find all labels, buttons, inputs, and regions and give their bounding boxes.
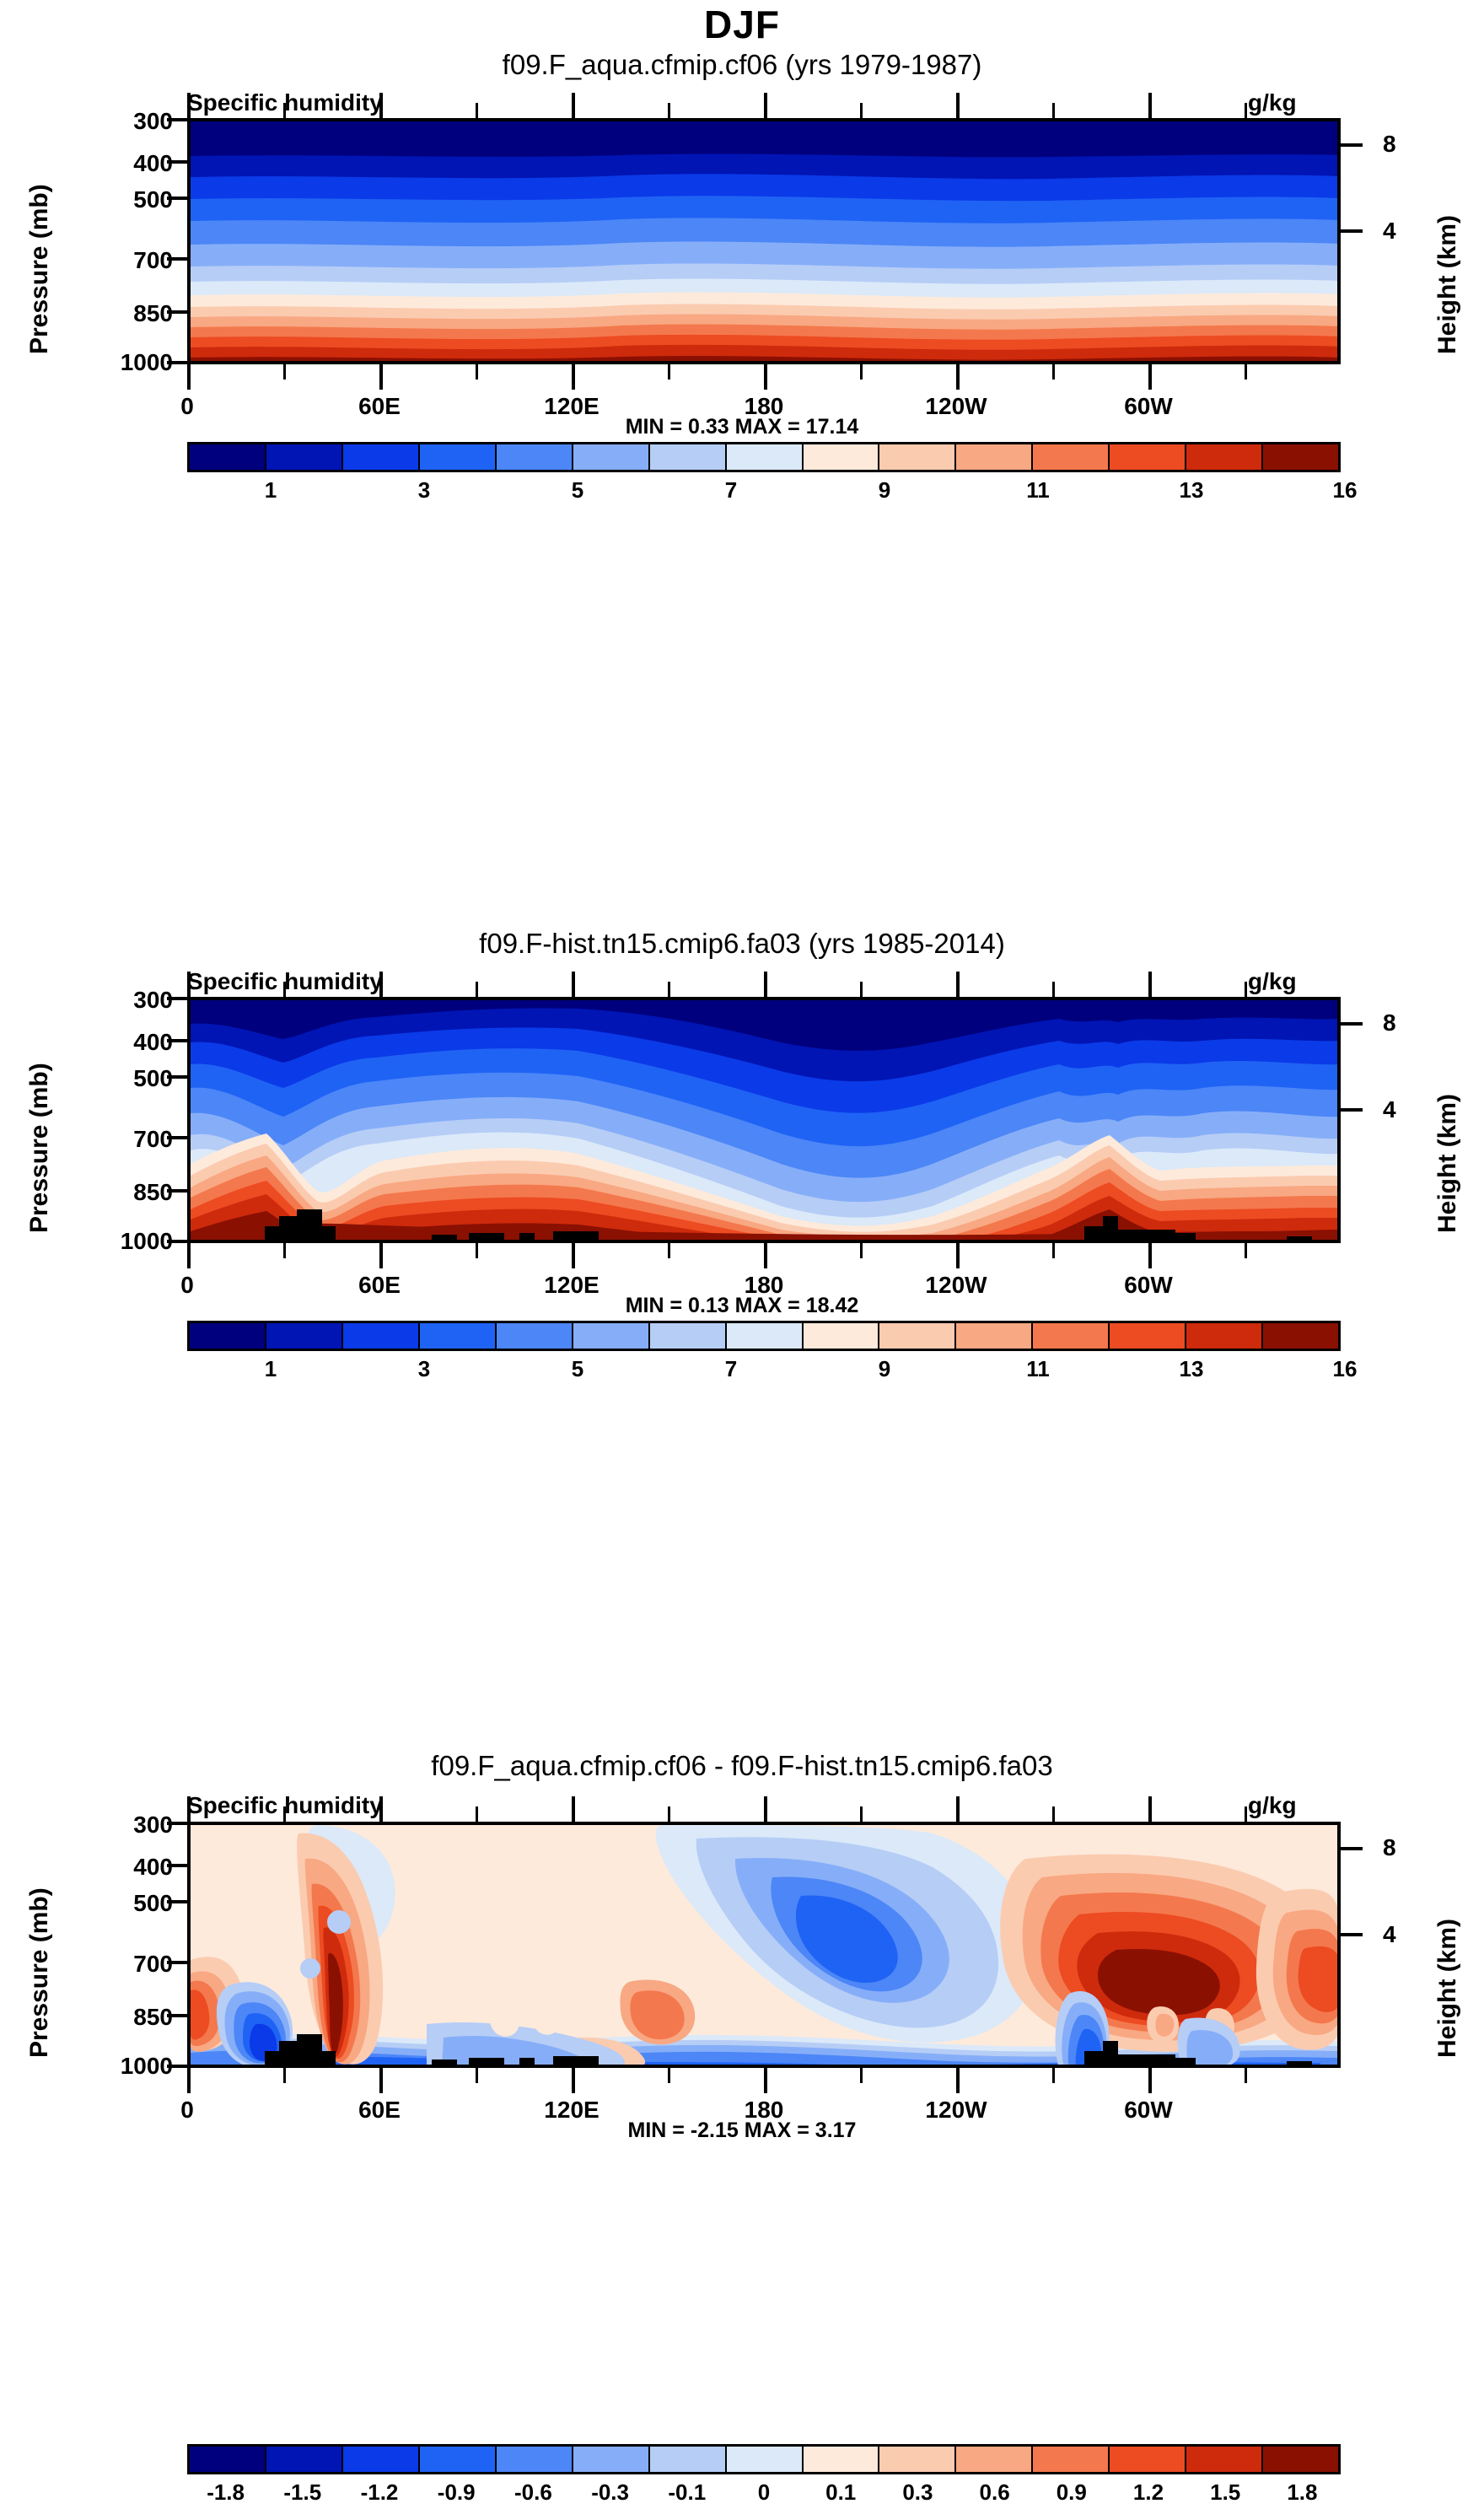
panel-1-top-tick-minor — [1052, 103, 1055, 120]
colorbar-segment — [1263, 2447, 1338, 2472]
panel-3-ytick-mark — [167, 1961, 189, 1964]
panel-2-cbar-label: 11 — [1000, 1356, 1076, 1382]
panel-3-ytick-right-mark — [1341, 1933, 1363, 1936]
colorbar-segment — [727, 444, 804, 470]
panel-2-bottom-tick-minor — [860, 1241, 863, 1258]
panel-2-ytick-mark — [167, 1075, 189, 1079]
panel-2-minmax: MIN = 0.13 MAX = 18.42 — [0, 1294, 1484, 1318]
panel-1-top-tick-minor — [860, 103, 863, 120]
colorbar-segment — [420, 1323, 497, 1349]
panel-3-bottom-tick-minor — [1245, 2066, 1247, 2083]
panel-1-bottom-tick-major — [572, 363, 575, 390]
panel-1-cbar-label: 11 — [1000, 477, 1076, 503]
panel-3-bottom-tick-major — [764, 2066, 767, 2093]
panel-2-bottom-tick-major — [1148, 1241, 1152, 1268]
colorbar-segment — [420, 2447, 497, 2472]
panel-3-ytick-700: 700 — [80, 1951, 173, 1978]
colorbar-segment — [879, 2447, 956, 2472]
panel-2-top-tick-major — [956, 972, 960, 999]
panel-3-top-tick-minor — [283, 1806, 286, 1823]
panel-2-ytick-mark — [167, 997, 189, 1000]
panel-1-ytick-400: 400 — [80, 150, 173, 177]
panel-1-contour-fill — [191, 121, 1341, 364]
colorbar-segment — [804, 444, 880, 470]
panel-3-bottom-tick-minor — [668, 2066, 670, 2083]
panel-3-ytick-mark — [167, 2014, 189, 2017]
panel-3-top-tick-major — [956, 1796, 960, 1823]
panel-2-cbar-label: 1 — [233, 1356, 309, 1382]
colorbar-segment — [343, 444, 420, 470]
colorbar-segment — [497, 444, 573, 470]
panel-3-ytick-right-8: 8 — [1383, 1834, 1433, 1861]
panel-3-contour-fill — [191, 1825, 1341, 2068]
panel-3-top-tick-major — [187, 1796, 191, 1823]
panel-1-bottom-tick-minor — [476, 363, 478, 380]
panel-2-title: f09.F-hist.tn15.cmip6.fa03 (yrs 1985-201… — [0, 928, 1484, 960]
panel-2-cbar-label: 16 — [1307, 1356, 1383, 1382]
panel-1-top-tick-minor — [476, 103, 478, 120]
panel-2-ytick-mark — [167, 1039, 189, 1042]
panel-2-top-tick-major — [572, 972, 575, 999]
panel-1-cbar-label: 16 — [1307, 477, 1383, 503]
panel-3-cbar-label: -1.5 — [265, 2479, 341, 2506]
colorbar-segment — [1110, 444, 1186, 470]
colorbar-segment — [420, 444, 497, 470]
panel-1-ytick-right-4: 4 — [1383, 218, 1433, 245]
panel-1-top-tick-major — [572, 93, 575, 120]
panel-3-cbar-label: 1.2 — [1110, 2479, 1186, 2506]
panel-3-top-tick-major — [379, 1796, 383, 1823]
panel-1-colorbar[interactable] — [187, 442, 1341, 472]
panel-3-top-tick-minor — [860, 1806, 863, 1823]
panel-1-bottom-tick-major — [379, 363, 383, 390]
panel-2-cbar-label: 7 — [693, 1356, 769, 1382]
panel-2-top-tick-major — [379, 972, 383, 999]
panel-3-y-axis-right-label: Height (km) — [1433, 1919, 1462, 2058]
colorbar-segment — [1263, 444, 1338, 470]
panel-2-ytick-500: 500 — [80, 1065, 173, 1092]
panel-1-ytick-500: 500 — [80, 186, 173, 213]
panel-1-ytick-mark — [167, 257, 189, 261]
panel-3-ytick-400: 400 — [80, 1854, 173, 1881]
colorbar-segment — [727, 2447, 804, 2472]
panel-3-ytick-right-4: 4 — [1383, 1921, 1433, 1948]
panel-3-bottom-tick-minor — [476, 2066, 478, 2083]
panel-2-contour-fill — [191, 1000, 1341, 1243]
colorbar-segment — [956, 444, 1033, 470]
colorbar-segment — [1033, 1323, 1110, 1349]
panel-2-ytick-300: 300 — [80, 987, 173, 1014]
panel-3-cbar-label: -0.3 — [573, 2479, 648, 2506]
panel-2-top-tick-major — [187, 972, 191, 999]
colorbar-segment — [190, 2447, 266, 2472]
panel-2-bottom-tick-major — [956, 1241, 960, 1268]
colorbar-segment — [1110, 1323, 1186, 1349]
panel-3-colorbar[interactable] — [187, 2444, 1341, 2474]
panel-1-bottom-tick-major — [956, 363, 960, 390]
panel-2-bottom-tick-major — [572, 1241, 575, 1268]
panel-1-cbar-label: 7 — [693, 477, 769, 503]
colorbar-segment — [266, 444, 343, 470]
panel-1-top-tick-minor — [1245, 103, 1247, 120]
colorbar-segment — [497, 2447, 573, 2472]
panel-2-cbar-label: 5 — [540, 1356, 616, 1382]
panel-2-ytick-right-4: 4 — [1383, 1096, 1433, 1123]
colorbar-segment — [956, 1323, 1033, 1349]
panel-1-ytick-right-mark — [1341, 143, 1363, 147]
panel-3-top-tick-major — [1148, 1796, 1152, 1823]
panel-2-y-axis-right-label: Height (km) — [1433, 1094, 1462, 1233]
colorbar-segment — [573, 2447, 650, 2472]
panel-3-cbar-label: 0 — [726, 2479, 802, 2506]
panel-3-y-axis-label: Pressure (mb) — [25, 1887, 54, 2058]
colorbar-segment — [573, 1323, 650, 1349]
panel-3-bottom-tick-minor — [1052, 2066, 1055, 2083]
panel-3-ytick-right-mark — [1341, 1847, 1363, 1850]
panel-1-cbar-label: 1 — [233, 477, 309, 503]
colorbar-segment — [343, 1323, 420, 1349]
panel-1-ytick-mark — [167, 361, 189, 364]
panel-3-cbar-label: 0.6 — [957, 2479, 1033, 2506]
panel-2-bottom-tick-minor — [283, 1241, 286, 1258]
panel-2-ytick-right-mark — [1341, 1022, 1363, 1026]
panel-2-bottom-tick-minor — [1052, 1241, 1055, 1258]
panel-3-top-tick-major — [764, 1796, 767, 1823]
panel-3-cbar-label: 1.5 — [1187, 2479, 1263, 2506]
panel-1-ytick-mark — [167, 118, 189, 121]
panel-3-cbar-label: 0.1 — [803, 2479, 879, 2506]
panel-2-plot-area — [187, 997, 1341, 1243]
panel-3-title: f09.F_aqua.cfmip.cf06 - f09.F-hist.tn15.… — [0, 1750, 1484, 1782]
panel-2-top-tick-minor — [860, 982, 863, 999]
panel-1-ytick-mark — [167, 197, 189, 200]
panel-3-cbar-label: -1.8 — [188, 2479, 264, 2506]
colorbar-segment — [573, 444, 650, 470]
panel-1-cbar-label: 9 — [847, 477, 922, 503]
panel-1-units-label: g/kg — [1248, 89, 1297, 116]
panel-3-cbar-label: -0.1 — [649, 2479, 725, 2506]
panel-3-bottom-tick-major — [379, 2066, 383, 2093]
panel-3-cbar-label: -1.2 — [341, 2479, 417, 2506]
panel-2-ytick-mark — [167, 1240, 189, 1243]
panel-3-ytick-300: 300 — [80, 1812, 173, 1839]
colorbar-segment — [1186, 2447, 1263, 2472]
panel-2-top-tick-minor — [476, 982, 478, 999]
panel-1-top-tick-minor — [283, 103, 286, 120]
panel-2-ytick-400: 400 — [80, 1029, 173, 1056]
colorbar-segment — [879, 1323, 956, 1349]
panel-2-cbar-label: 9 — [847, 1356, 922, 1382]
panel-3-plot-area — [187, 1822, 1341, 2068]
panel-2-ytick-1000: 1000 — [80, 1228, 173, 1255]
panel-1-title: f09.F_aqua.cfmip.cf06 (yrs 1979-1987) — [0, 49, 1484, 81]
panel-3-ytick-mark — [167, 1822, 189, 1825]
panel-3-minmax: MIN = -2.15 MAX = 3.17 — [0, 2119, 1484, 2143]
panel-2-cbar-label: 13 — [1153, 1356, 1229, 1382]
panel-2-cbar-label: 3 — [386, 1356, 462, 1382]
panel-1-bottom-tick-minor — [283, 363, 286, 380]
panel-1-ytick-right-8: 8 — [1383, 131, 1433, 158]
panel-3-top-tick-minor — [476, 1806, 478, 1823]
panel-3-cbar-label: -0.6 — [495, 2479, 571, 2506]
colorbar-segment — [1263, 1323, 1338, 1349]
panel-2-bottom-tick-minor — [668, 1241, 670, 1258]
panel-1-minmax: MIN = 0.33 MAX = 17.14 — [0, 415, 1484, 439]
colorbar-segment — [190, 444, 266, 470]
panel-2-bottom-tick-major — [379, 1241, 383, 1268]
panel-2-units-label: g/kg — [1248, 968, 1297, 995]
colorbar-segment — [266, 2447, 343, 2472]
panel-3-cbar-label: -0.9 — [418, 2479, 494, 2506]
panel-1-top-tick-major — [187, 93, 191, 120]
panel-2-ytick-850: 850 — [80, 1179, 173, 1206]
panel-3-top-tick-minor — [1052, 1806, 1055, 1823]
colorbar-segment — [650, 444, 727, 470]
colorbar-segment — [879, 444, 956, 470]
panel-3-ytick-mark — [167, 1900, 189, 1903]
panel-2-ytick-right-8: 8 — [1383, 1010, 1433, 1036]
panel-2-top-tick-minor — [1245, 982, 1247, 999]
panel-1-top-tick-minor — [668, 103, 670, 120]
panel-3-bottom-tick-major — [1148, 2066, 1152, 2093]
panel-2-top-tick-minor — [283, 982, 286, 999]
panel-3-bottom-tick-major — [187, 2066, 191, 2093]
panel-1-ytick-mark — [167, 160, 189, 164]
panel-1-top-tick-major — [764, 93, 767, 120]
panel-1-y-axis-right-label: Height (km) — [1433, 215, 1462, 354]
panel-2-top-tick-major — [1148, 972, 1152, 999]
panel-3-cbar-label: 0.9 — [1034, 2479, 1110, 2506]
panel-2-bottom-tick-minor — [1245, 1241, 1247, 1258]
colorbar-segment — [497, 1323, 573, 1349]
panel-2-ytick-mark — [167, 1189, 189, 1193]
panel-2-y-axis-label: Pressure (mb) — [25, 1063, 54, 1233]
colorbar-segment — [190, 1323, 266, 1349]
colorbar-segment — [1186, 1323, 1263, 1349]
panel-2-top-tick-minor — [1052, 982, 1055, 999]
panel-1-y-axis-label: Pressure (mb) — [25, 184, 54, 354]
panel-2-top-tick-minor — [668, 982, 670, 999]
panel-1-cbar-label: 13 — [1153, 477, 1229, 503]
colorbar-segment — [1033, 444, 1110, 470]
panel-2-ytick-700: 700 — [80, 1126, 173, 1153]
panel-3-ytick-1000: 1000 — [80, 2053, 173, 2080]
panel-2-bottom-tick-major — [764, 1241, 767, 1268]
panel-1-ytick-850: 850 — [80, 300, 173, 327]
panel-3-bottom-tick-major — [572, 2066, 575, 2093]
colorbar-segment — [1033, 2447, 1110, 2472]
colorbar-segment — [343, 2447, 420, 2472]
panel-1-ytick-300: 300 — [80, 108, 173, 135]
panel-1-top-tick-major — [1148, 93, 1152, 120]
colorbar-segment — [804, 2447, 880, 2472]
panel-3-bottom-tick-minor — [860, 2066, 863, 2083]
panel-2-bottom-tick-minor — [476, 1241, 478, 1258]
panel-1-plot-area — [187, 118, 1341, 364]
panel-3-ytick-500: 500 — [80, 1890, 173, 1917]
colorbar-segment — [650, 2447, 727, 2472]
panel-1-bottom-tick-major — [764, 363, 767, 390]
panel-1-bottom-tick-minor — [860, 363, 863, 380]
panel-3-bottom-tick-major — [956, 2066, 960, 2093]
panel-2-ytick-right-mark — [1341, 1108, 1363, 1112]
panel-2-colorbar[interactable] — [187, 1321, 1341, 1351]
panel-3-top-tick-minor — [1245, 1806, 1247, 1823]
panel-1-bottom-tick-minor — [1052, 363, 1055, 380]
panel-3-top-tick-minor — [668, 1806, 670, 1823]
panel-1-bottom-tick-major — [1148, 363, 1152, 390]
colorbar-segment — [266, 1323, 343, 1349]
panel-1-ytick-mark — [167, 310, 189, 314]
panel-3-cbar-label: 0.3 — [879, 2479, 955, 2506]
panel-2-ytick-mark — [167, 1136, 189, 1139]
panel-1-cbar-label: 3 — [386, 477, 462, 503]
panel-3-ytick-mark — [167, 1864, 189, 1867]
colorbar-segment — [1186, 444, 1263, 470]
panel-3-cbar-label: 1.8 — [1264, 2479, 1340, 2506]
panel-1-ytick-right-mark — [1341, 229, 1363, 233]
panel-3-top-tick-major — [572, 1796, 575, 1823]
panel-3-units-label: g/kg — [1248, 1792, 1297, 1819]
panel-1-bottom-tick-major — [187, 363, 191, 390]
panel-3-ytick-mark — [167, 2065, 189, 2068]
colorbar-segment — [650, 1323, 727, 1349]
colorbar-segment — [956, 2447, 1033, 2472]
panel-1-cbar-label: 5 — [540, 477, 616, 503]
panel-2-bottom-tick-major — [187, 1241, 191, 1268]
panel-1-top-tick-major — [379, 93, 383, 120]
panel-1-bottom-tick-minor — [1245, 363, 1247, 380]
panel-2-top-tick-major — [764, 972, 767, 999]
panel-3-ytick-850: 850 — [80, 2004, 173, 2031]
colorbar-segment — [1110, 2447, 1186, 2472]
page-title: DJF — [0, 2, 1484, 47]
panel-1-bottom-tick-minor — [668, 363, 670, 380]
panel-3-bottom-tick-minor — [283, 2066, 286, 2083]
panel-1-ytick-700: 700 — [80, 247, 173, 274]
colorbar-segment — [804, 1323, 880, 1349]
colorbar-segment — [727, 1323, 804, 1349]
panel-1-ytick-1000: 1000 — [80, 349, 173, 376]
panel-1-top-tick-major — [956, 93, 960, 120]
